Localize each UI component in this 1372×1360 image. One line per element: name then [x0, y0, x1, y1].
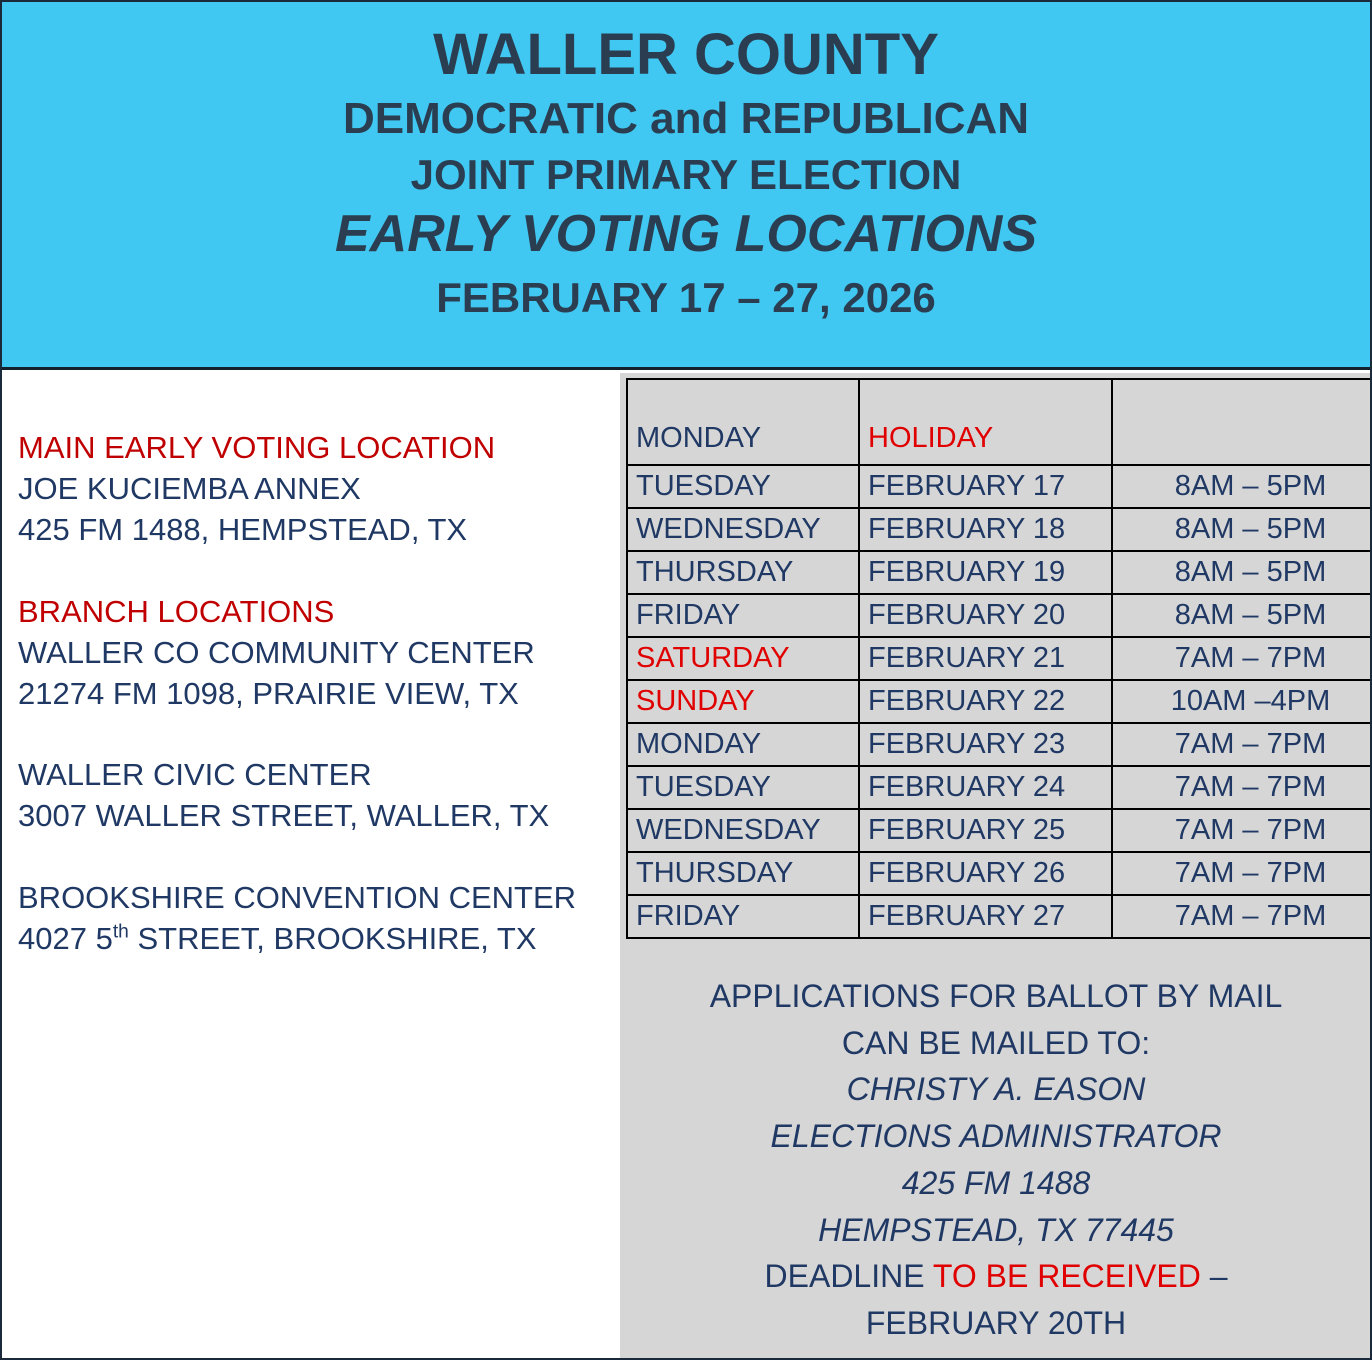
- schedule-time-cell: [1112, 379, 1372, 465]
- schedule-row: THURSDAYFEBRUARY 198AM – 5PM: [627, 551, 1372, 594]
- schedule-date-cell: FEBRUARY 18: [859, 508, 1112, 551]
- mail-line-deadline: DEADLINE TO BE RECEIVED –: [626, 1253, 1366, 1300]
- mail-line-mailed-to: CAN BE MAILED TO:: [626, 1020, 1366, 1067]
- schedule-date-cell: FEBRUARY 25: [859, 809, 1112, 852]
- schedule-date-cell: FEBRUARY 26: [859, 852, 1112, 895]
- schedule-day-cell: TUESDAY: [627, 766, 859, 809]
- branch-2-address: 3007 WALLER STREET, WALLER, TX: [18, 796, 612, 837]
- schedule-day-cell: FRIDAY: [627, 594, 859, 637]
- schedule-day-cell: MONDAY: [627, 723, 859, 766]
- branch-2-name: WALLER CIVIC CENTER: [18, 755, 612, 796]
- mail-deadline-suffix: –: [1201, 1258, 1228, 1294]
- schedule-time-cell: 7AM – 7PM: [1112, 852, 1372, 895]
- spacer-1: [18, 551, 612, 592]
- early-voting-schedule-table: MONDAYHOLIDAYTUESDAYFEBRUARY 178AM – 5PM…: [626, 378, 1372, 939]
- mail-line-deadline-date: FEBRUARY 20TH: [626, 1300, 1366, 1347]
- schedule-day-cell: FRIDAY: [627, 895, 859, 938]
- schedule-row: SATURDAYFEBRUARY 217AM – 7PM: [627, 637, 1372, 680]
- main-location-address: 425 FM 1488, HEMPSTEAD, TX: [18, 510, 612, 551]
- schedule-date-cell: HOLIDAY: [859, 379, 1112, 465]
- schedule-time-cell: 8AM – 5PM: [1112, 594, 1372, 637]
- schedule-date-cell: FEBRUARY 23: [859, 723, 1112, 766]
- header-early-voting-line: EARLY VOTING LOCATIONS: [2, 200, 1370, 265]
- schedule-day-cell: THURSDAY: [627, 852, 859, 895]
- main-location-name: JOE KUCIEMBA ANNEX: [18, 469, 612, 510]
- schedule-row: TUESDAYFEBRUARY 178AM – 5PM: [627, 465, 1372, 508]
- spacer-3: [18, 837, 612, 878]
- schedule-row: WEDNESDAYFEBRUARY 188AM – 5PM: [627, 508, 1372, 551]
- branch-3-address-ordinal: th: [113, 922, 129, 943]
- schedule-day-cell: WEDNESDAY: [627, 809, 859, 852]
- schedule-row: MONDAYFEBRUARY 237AM – 7PM: [627, 723, 1372, 766]
- schedule-day-cell: THURSDAY: [627, 551, 859, 594]
- schedule-time-cell: 7AM – 7PM: [1112, 723, 1372, 766]
- main-location-heading: MAIN EARLY VOTING LOCATION: [18, 428, 612, 469]
- schedule-date-cell: FEBRUARY 24: [859, 766, 1112, 809]
- schedule-day-cell: SATURDAY: [627, 637, 859, 680]
- schedule-day-cell: WEDNESDAY: [627, 508, 859, 551]
- mail-line-administrator-name: CHRISTY A. EASON: [626, 1066, 1366, 1113]
- schedule-date-cell: FEBRUARY 22: [859, 680, 1112, 723]
- schedule-table-body: MONDAYHOLIDAYTUESDAYFEBRUARY 178AM – 5PM…: [627, 379, 1372, 938]
- schedule-row: TUESDAYFEBRUARY 247AM – 7PM: [627, 766, 1372, 809]
- schedule-date-cell: FEBRUARY 19: [859, 551, 1112, 594]
- schedule-time-cell: 7AM – 7PM: [1112, 809, 1372, 852]
- mail-line-administrator-title: ELECTIONS ADMINISTRATOR: [626, 1113, 1366, 1160]
- mail-line-applications: APPLICATIONS FOR BALLOT BY MAIL: [626, 973, 1366, 1020]
- branch-3-address-number: 4027 5: [18, 921, 113, 956]
- schedule-row: MONDAYHOLIDAY: [627, 379, 1372, 465]
- header-date-range: FEBRUARY 17 – 27, 2026: [2, 265, 1370, 323]
- schedule-date-cell: FEBRUARY 27: [859, 895, 1112, 938]
- locations-column: MAIN EARLY VOTING LOCATION JOE KUCIEMBA …: [2, 373, 620, 1359]
- schedule-time-cell: 7AM – 7PM: [1112, 766, 1372, 809]
- schedule-date-cell: FEBRUARY 20: [859, 594, 1112, 637]
- mail-line-city-state-zip: HEMPSTEAD, TX 77445: [626, 1207, 1366, 1254]
- mail-line-street: 425 FM 1488: [626, 1160, 1366, 1207]
- schedule-time-cell: 10AM –4PM: [1112, 680, 1372, 723]
- spacer-2: [18, 714, 612, 755]
- schedule-panel: MONDAYHOLIDAYTUESDAYFEBRUARY 178AM – 5PM…: [620, 373, 1370, 1359]
- branch-1-address: 21274 FM 1098, PRAIRIE VIEW, TX: [18, 674, 612, 715]
- schedule-time-cell: 7AM – 7PM: [1112, 637, 1372, 680]
- ballot-by-mail-block: APPLICATIONS FOR BALLOT BY MAIL CAN BE M…: [626, 973, 1366, 1347]
- header-party-line: DEMOCRATIC and REPUBLICAN: [2, 84, 1370, 146]
- schedule-time-cell: 7AM – 7PM: [1112, 895, 1372, 938]
- schedule-row: FRIDAYFEBRUARY 277AM – 7PM: [627, 895, 1372, 938]
- early-voting-poster: WALLER COUNTY DEMOCRATIC and REPUBLICAN …: [0, 0, 1372, 1360]
- header-election-line: JOINT PRIMARY ELECTION: [2, 146, 1370, 200]
- schedule-time-cell: 8AM – 5PM: [1112, 465, 1372, 508]
- header-banner: WALLER COUNTY DEMOCRATIC and REPUBLICAN …: [2, 2, 1370, 370]
- schedule-day-cell: TUESDAY: [627, 465, 859, 508]
- schedule-row: WEDNESDAYFEBRUARY 257AM – 7PM: [627, 809, 1372, 852]
- schedule-day-cell: SUNDAY: [627, 680, 859, 723]
- schedule-row: SUNDAYFEBRUARY 2210AM –4PM: [627, 680, 1372, 723]
- mail-deadline-emphasis: TO BE RECEIVED: [933, 1258, 1201, 1294]
- schedule-time-cell: 8AM – 5PM: [1112, 508, 1372, 551]
- mail-deadline-prefix: DEADLINE: [765, 1258, 933, 1294]
- schedule-date-cell: FEBRUARY 21: [859, 637, 1112, 680]
- branch-3-address-rest: STREET, BROOKSHIRE, TX: [129, 921, 537, 956]
- schedule-row: THURSDAYFEBRUARY 267AM – 7PM: [627, 852, 1372, 895]
- branch-1-name: WALLER CO COMMUNITY CENTER: [18, 633, 612, 674]
- branch-locations-heading: BRANCH LOCATIONS: [18, 592, 612, 633]
- branch-3-name: BROOKSHIRE CONVENTION CENTER: [18, 878, 612, 919]
- header-county-title: WALLER COUNTY: [2, 2, 1370, 84]
- schedule-row: FRIDAYFEBRUARY 208AM – 5PM: [627, 594, 1372, 637]
- schedule-day-cell: MONDAY: [627, 379, 859, 465]
- schedule-time-cell: 8AM – 5PM: [1112, 551, 1372, 594]
- schedule-date-cell: FEBRUARY 17: [859, 465, 1112, 508]
- branch-3-address: 4027 5th STREET, BROOKSHIRE, TX: [18, 919, 612, 960]
